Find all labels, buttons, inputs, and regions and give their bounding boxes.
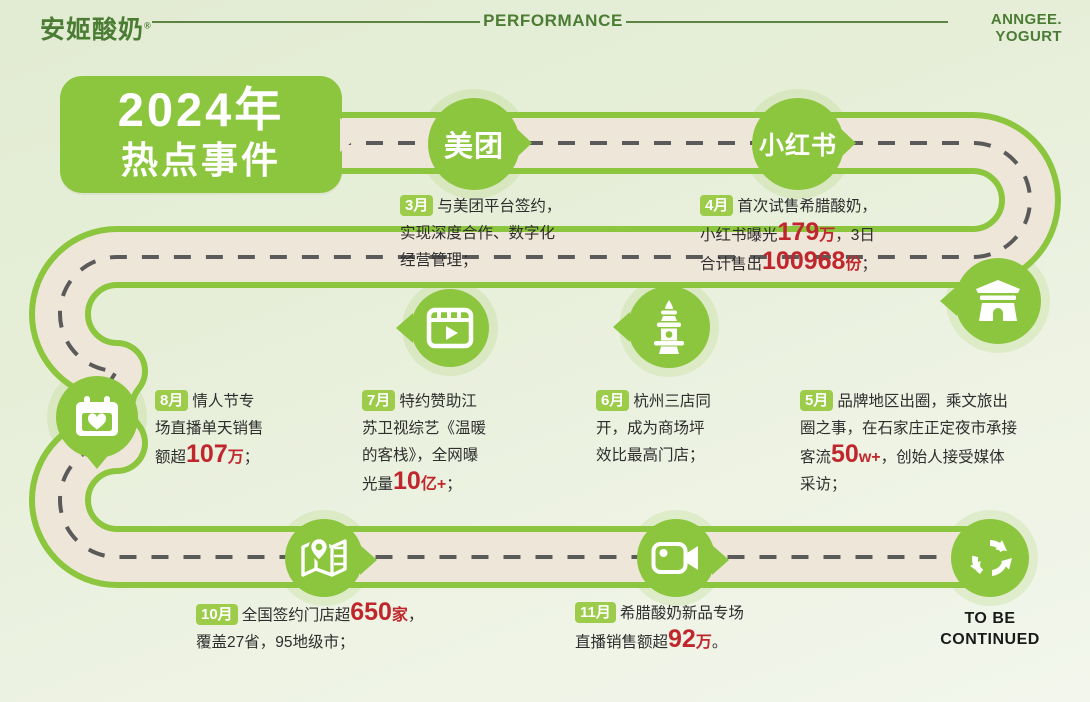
event-text: 合计售出	[700, 256, 762, 273]
event-text: ；	[861, 256, 877, 273]
month-tag: 8月	[155, 390, 188, 411]
node-beak-june	[613, 312, 630, 342]
event-text: ，	[408, 607, 424, 624]
event-text: 直播销售额超	[575, 634, 668, 651]
event-block-march: 3月与美团平台签约，实现深度合作、数字化经营管理；	[400, 193, 630, 274]
month-tag: 3月	[400, 195, 433, 216]
month-tag: 7月	[362, 390, 395, 411]
node-beak-xiaohongshu	[839, 127, 856, 159]
node-august[interactable]	[56, 376, 138, 458]
title-plate: 2024年 热点事件	[60, 76, 342, 193]
event-text-line: 直播销售额超92万。	[575, 627, 845, 656]
tv-play-icon	[426, 306, 474, 350]
event-text: 采访；	[800, 476, 847, 493]
node-beak-august	[83, 452, 111, 469]
event-text-line: 6月杭州三店同	[596, 388, 756, 415]
event-block-november: 11月希腊酸奶新品专场直播销售额超92万。	[575, 600, 845, 656]
node-beak-october	[360, 545, 377, 575]
highlight-number: 100968	[762, 247, 845, 275]
map-pin-icon	[300, 536, 348, 580]
node-november[interactable]	[637, 519, 715, 597]
event-text-line: 开，成为商场坪	[596, 415, 756, 442]
node-october[interactable]	[285, 519, 363, 597]
month-tag: 11月	[575, 602, 616, 623]
event-text-line: 苏卫视综艺《温暖	[362, 415, 534, 442]
node-meituan[interactable]: 美团	[428, 98, 520, 190]
event-text: 实现深度合作、数字化	[400, 225, 555, 242]
event-block-may: 5月品牌地区出圈，乘文旅出圈之事，在石家庄正定夜市承接客流50w+，创始人接受媒…	[800, 388, 1062, 498]
event-text: 杭州三店同	[633, 393, 711, 410]
highlight-number: 107	[186, 440, 228, 468]
month-tag: 5月	[800, 390, 833, 411]
event-text-line: 采访；	[800, 471, 1062, 498]
highlight-number: 10	[393, 467, 421, 495]
to-be-continued-label: TO BE CONTINUED	[905, 608, 1075, 650]
event-block-june: 6月杭州三店同开，成为商场坪效比最高门店；	[596, 388, 756, 469]
event-block-april: 4月首次试售希腊酸奶，小红书曝光179万，3日合计售出100968份；	[700, 193, 950, 278]
calendar-heart-icon	[73, 394, 121, 440]
node-to-be-continued[interactable]	[951, 519, 1029, 597]
event-text: 苏卫视综艺《温暖	[362, 420, 486, 437]
event-text-line: 11月希腊酸奶新品专场	[575, 600, 845, 627]
event-text-line: 7月特约赞助江	[362, 388, 534, 415]
highlight-unit: 万	[228, 449, 244, 466]
highlight-unit: w+	[859, 449, 881, 466]
node-label-xiaohongshu: 小红书	[759, 126, 837, 162]
node-xiaohongshu[interactable]: 小红书	[752, 98, 844, 190]
event-text: 场直播单天销售	[155, 420, 264, 437]
event-text: 额超	[155, 449, 186, 466]
event-block-october: 10月全国签约门店超650家，覆盖27省，95地级市；	[196, 600, 486, 656]
event-text: 。	[712, 634, 728, 651]
title-line-2: 热点事件	[60, 138, 342, 184]
event-text-line: 覆盖27省，95地级市；	[196, 629, 486, 656]
node-beak-july	[396, 313, 413, 343]
event-text-line: 4月首次试售希腊酸奶，	[700, 193, 950, 220]
event-text: ，创始人接受媒体	[881, 449, 1005, 466]
event-text: 开，成为商场坪	[596, 420, 705, 437]
pagoda-icon	[648, 299, 690, 355]
event-text-line: 圈之事，在石家庄正定夜市承接	[800, 415, 1062, 442]
month-tag: 6月	[596, 390, 629, 411]
to-be-continued-line1: TO BE	[905, 608, 1075, 629]
event-text: ，3日	[835, 227, 875, 244]
event-block-august: 8月情人节专场直播单天销售额超107万；	[155, 388, 320, 471]
event-text: 全国签约门店超	[242, 607, 351, 624]
video-camera-icon	[651, 540, 701, 576]
event-text: 首次试售希腊酸奶，	[737, 198, 877, 215]
title-plate-arrow	[340, 118, 360, 152]
highlight-unit: 万	[819, 227, 835, 244]
node-beak-november	[712, 545, 729, 575]
highlight-unit: 份	[845, 256, 861, 273]
event-text: 品牌地区出圈，乘文旅出	[837, 393, 1008, 410]
event-text-line: 效比最高门店；	[596, 442, 756, 469]
event-block-july: 7月特约赞助江苏卫视综艺《温暖的客栈》，全网曝光量10亿+；	[362, 388, 534, 498]
event-text: 光量	[362, 476, 393, 493]
highlight-number: 179	[778, 218, 820, 246]
event-text-line: 3月与美团平台签约，	[400, 193, 630, 220]
node-june[interactable]	[628, 286, 710, 368]
event-text-line: 场直播单天销售	[155, 415, 320, 442]
month-tag: 4月	[700, 195, 733, 216]
highlight-unit: 家	[392, 607, 408, 624]
highlight-number: 50	[831, 440, 859, 468]
event-text-line: 8月情人节专	[155, 388, 320, 415]
node-label-meituan: 美团	[444, 123, 504, 165]
month-tag: 10月	[196, 604, 238, 625]
event-text-line: 光量10亿+；	[362, 469, 534, 498]
to-be-continued-line2: CONTINUED	[905, 629, 1075, 650]
recycle-cycle-icon	[966, 534, 1014, 582]
event-text: 经营管理；	[400, 252, 478, 269]
highlight-number: 650	[350, 598, 392, 626]
event-text: 特约赞助江	[399, 393, 477, 410]
event-text: 客流	[800, 449, 831, 466]
event-text-line: 10月全国签约门店超650家，	[196, 600, 486, 629]
node-beak-may	[940, 286, 957, 316]
event-text-line: 额超107万；	[155, 442, 320, 471]
event-text-line: 5月品牌地区出圈，乘文旅出	[800, 388, 1062, 415]
event-text: 与美团平台签约，	[437, 198, 561, 215]
node-july[interactable]	[411, 289, 489, 367]
infographic-canvas: 安姬酸奶® PERFORMANCE ANNGEE. YOGURT	[0, 0, 1090, 702]
event-text: ；	[446, 476, 462, 493]
event-text: 圈之事，在石家庄正定夜市承接	[800, 420, 1017, 437]
event-text-line: 客流50w+，创始人接受媒体	[800, 442, 1062, 471]
event-text: 的客栈》，全网曝	[362, 447, 478, 464]
event-text-line: 合计售出100968份；	[700, 249, 950, 278]
highlight-unit: 万	[696, 634, 712, 651]
event-text: ；	[244, 449, 260, 466]
event-text-line: 的客栈》，全网曝	[362, 442, 534, 469]
gate-icon	[973, 278, 1023, 324]
event-text: 小红书曝光	[700, 227, 778, 244]
event-text: 覆盖27省，95地级市；	[196, 634, 354, 651]
highlight-number: 92	[668, 625, 696, 653]
event-text: 情人节专	[192, 393, 254, 410]
node-beak-meituan	[515, 127, 532, 159]
title-line-1: 2024年	[60, 76, 342, 138]
event-text-line: 小红书曝光179万，3日	[700, 220, 950, 249]
node-may[interactable]	[955, 258, 1041, 344]
event-text-line: 经营管理；	[400, 247, 630, 274]
event-text-line: 实现深度合作、数字化	[400, 220, 630, 247]
highlight-unit: 亿+	[421, 476, 446, 493]
event-text: 希腊酸奶新品专场	[620, 605, 744, 622]
event-text: 效比最高门店；	[596, 447, 705, 464]
